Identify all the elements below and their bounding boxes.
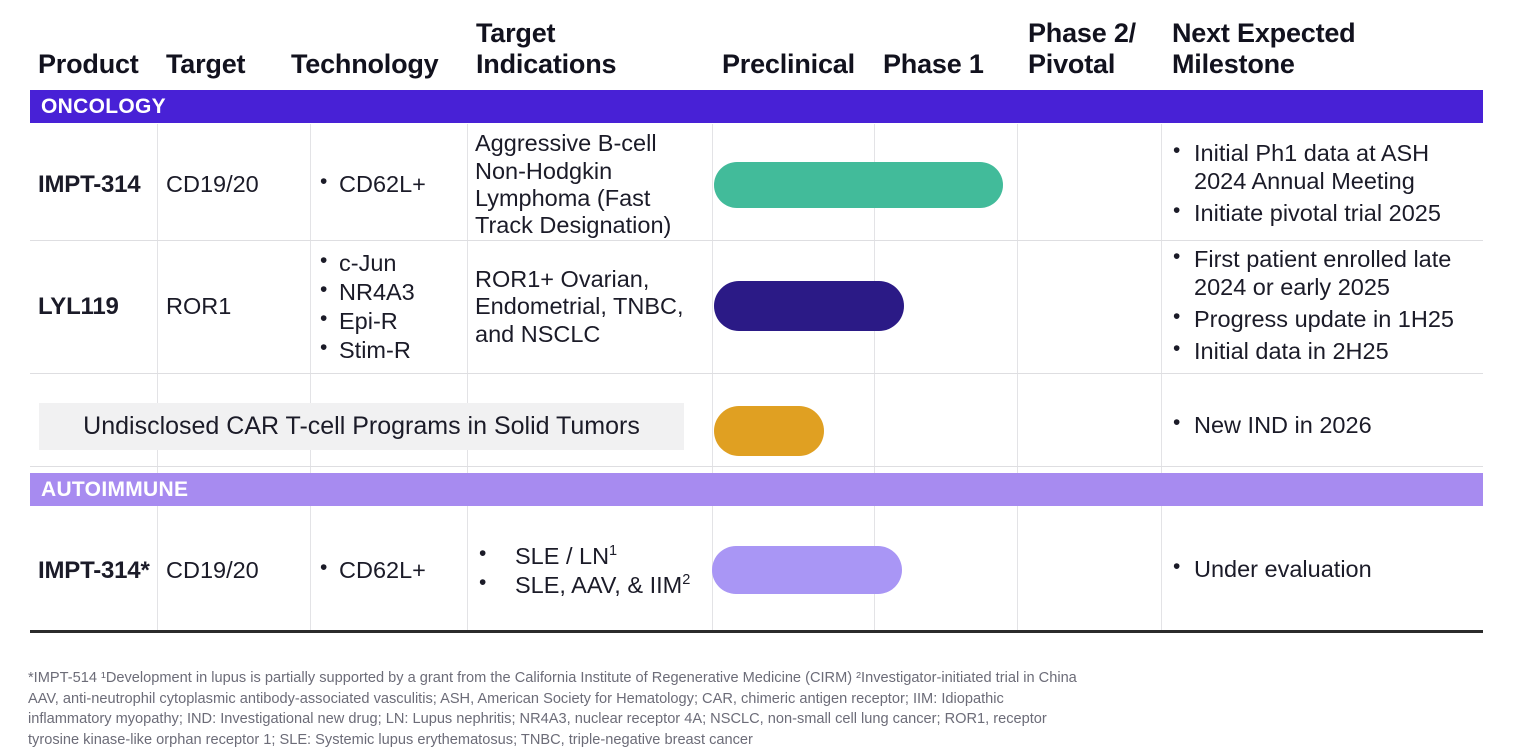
grid-vline-4 bbox=[712, 124, 713, 630]
row-impt314-auto-milestones: Under evaluation bbox=[1172, 545, 1462, 597]
indication-text: SLE, AAV, & IIM bbox=[515, 572, 682, 598]
technology-bullet-item: Stim-R bbox=[318, 336, 415, 364]
row-divider-2 bbox=[30, 373, 1483, 374]
grid-vline-2 bbox=[310, 124, 311, 630]
technology-bullet-item: CD62L+ bbox=[318, 556, 426, 584]
footnote-ref-2: 2 bbox=[682, 572, 690, 588]
milestone-list: First patient enrolled late 2024 or earl… bbox=[1172, 245, 1462, 370]
row-lyl119-technology: c-Jun NR4A3 Epi-R Stim-R bbox=[318, 243, 463, 371]
row-impt314-onc-indications: Aggressive B-cell Non-Hodgkin Lymphoma (… bbox=[475, 128, 705, 242]
milestone-item: Progress update in 1H25 bbox=[1172, 305, 1462, 333]
milestone-list: Initial Ph1 data at ASH 2024 Annual Meet… bbox=[1172, 139, 1462, 232]
indication-bullet-item: SLE, AAV, & IIM2 bbox=[475, 571, 690, 599]
row-impt314-onc-target: CD19/20 bbox=[166, 128, 301, 242]
column-header-technology: Technology bbox=[291, 49, 439, 80]
indication-text: ROR1+ Ovarian, Endometrial, TNBC, and NS… bbox=[475, 266, 705, 348]
footnote-line: *IMPT-514 ¹Development in lupus is parti… bbox=[28, 668, 1448, 689]
row-lyl119-milestones: First patient enrolled late 2024 or earl… bbox=[1172, 243, 1462, 371]
row-impt314-auto-technology: CD62L+ bbox=[318, 512, 463, 630]
milestone-item: First patient enrolled late 2024 or earl… bbox=[1172, 245, 1462, 301]
row-lyl119-target: ROR1 bbox=[166, 243, 301, 371]
row-undisclosed-milestones: New IND in 2026 bbox=[1172, 398, 1462, 456]
technology-bullet-list: c-Jun NR4A3 Epi-R Stim-R bbox=[318, 249, 415, 366]
column-header-preclinical: Preclinical bbox=[722, 49, 855, 80]
phase-bar-impt314-auto[interactable] bbox=[712, 546, 902, 594]
undisclosed-programs-banner: Undisclosed CAR T-cell Programs in Solid… bbox=[39, 403, 684, 450]
footnotes-block: *IMPT-514 ¹Development in lupus is parti… bbox=[28, 668, 1448, 751]
column-header-phase-2-pivotal: Phase 2/ Pivotal bbox=[1028, 18, 1136, 80]
column-header-phase-1: Phase 1 bbox=[883, 49, 984, 80]
section-band-oncology-label: ONCOLOGY bbox=[30, 95, 166, 119]
row-lyl119-indications: ROR1+ Ovarian, Endometrial, TNBC, and NS… bbox=[475, 243, 705, 371]
footnote-line: tyrosine kinase-like orphan receptor 1; … bbox=[28, 730, 1448, 751]
milestone-item: New IND in 2026 bbox=[1172, 411, 1372, 439]
grid-vline-7 bbox=[1161, 124, 1162, 630]
technology-bullet-list: CD62L+ bbox=[318, 170, 426, 199]
row-lyl119-product: LYL119 bbox=[38, 243, 153, 371]
column-header-target: Target bbox=[166, 49, 245, 80]
milestone-list: Under evaluation bbox=[1172, 555, 1372, 587]
row-impt314-auto-product: IMPT-314* bbox=[38, 512, 163, 630]
indication-text: SLE / LN bbox=[515, 543, 609, 569]
row-impt314-onc-milestones: Initial Ph1 data at ASH 2024 Annual Meet… bbox=[1172, 128, 1462, 242]
footnote-line: inflammatory myopathy; IND: Investigatio… bbox=[28, 709, 1448, 730]
technology-bullet-item: CD62L+ bbox=[318, 170, 426, 198]
milestone-item: Under evaluation bbox=[1172, 555, 1372, 583]
milestone-item: Initial data in 2H25 bbox=[1172, 337, 1462, 365]
row-impt314-onc-technology: CD62L+ bbox=[318, 128, 463, 242]
indication-bullet-item: SLE / LN1 bbox=[475, 542, 690, 570]
row-impt314-auto-target: CD19/20 bbox=[166, 512, 301, 630]
phase-bar-impt314-onc[interactable] bbox=[714, 162, 1003, 208]
undisclosed-programs-label: Undisclosed CAR T-cell Programs in Solid… bbox=[83, 412, 640, 441]
milestone-list: New IND in 2026 bbox=[1172, 411, 1372, 443]
section-band-autoimmune: AUTOIMMUNE bbox=[30, 473, 1483, 506]
section-band-autoimmune-label: AUTOIMMUNE bbox=[30, 478, 188, 502]
technology-bullet-item: c-Jun bbox=[318, 249, 415, 277]
section-band-oncology: ONCOLOGY bbox=[30, 90, 1483, 123]
pipeline-chart: Product Target Technology Target Indicat… bbox=[0, 0, 1513, 756]
row-divider-1 bbox=[30, 240, 1483, 241]
column-header-product: Product bbox=[38, 49, 139, 80]
column-header-next-expected-milestone: Next Expected Milestone bbox=[1172, 18, 1355, 80]
grid-vline-3 bbox=[467, 124, 468, 630]
row-impt314-auto-indications: SLE / LN1 SLE, AAV, & IIM2 bbox=[475, 512, 710, 630]
footnote-ref-1: 1 bbox=[609, 543, 617, 559]
technology-bullet-item: Epi-R bbox=[318, 307, 415, 335]
indication-bullet-list: SLE / LN1 SLE, AAV, & IIM2 bbox=[475, 542, 690, 600]
column-header-row: Product Target Technology Target Indicat… bbox=[0, 0, 1513, 88]
table-bottom-rule bbox=[30, 630, 1483, 633]
indication-text: Aggressive B-cell Non-Hodgkin Lymphoma (… bbox=[475, 130, 705, 240]
technology-bullet-list: CD62L+ bbox=[318, 556, 426, 585]
row-divider-3 bbox=[30, 466, 1483, 467]
footnote-line: AAV, anti-neutrophil cytoplasmic antibod… bbox=[28, 689, 1448, 710]
phase-bar-undisclosed[interactable] bbox=[714, 406, 824, 456]
technology-bullet-item: NR4A3 bbox=[318, 278, 415, 306]
milestone-item: Initial Ph1 data at ASH 2024 Annual Meet… bbox=[1172, 139, 1462, 195]
milestone-item: Initiate pivotal trial 2025 bbox=[1172, 199, 1462, 227]
row-impt314-onc-product: IMPT-314 bbox=[38, 128, 153, 242]
phase-bar-lyl119[interactable] bbox=[714, 281, 904, 331]
grid-vline-6 bbox=[1017, 124, 1018, 630]
column-header-target-indications: Target Indications bbox=[476, 18, 616, 80]
